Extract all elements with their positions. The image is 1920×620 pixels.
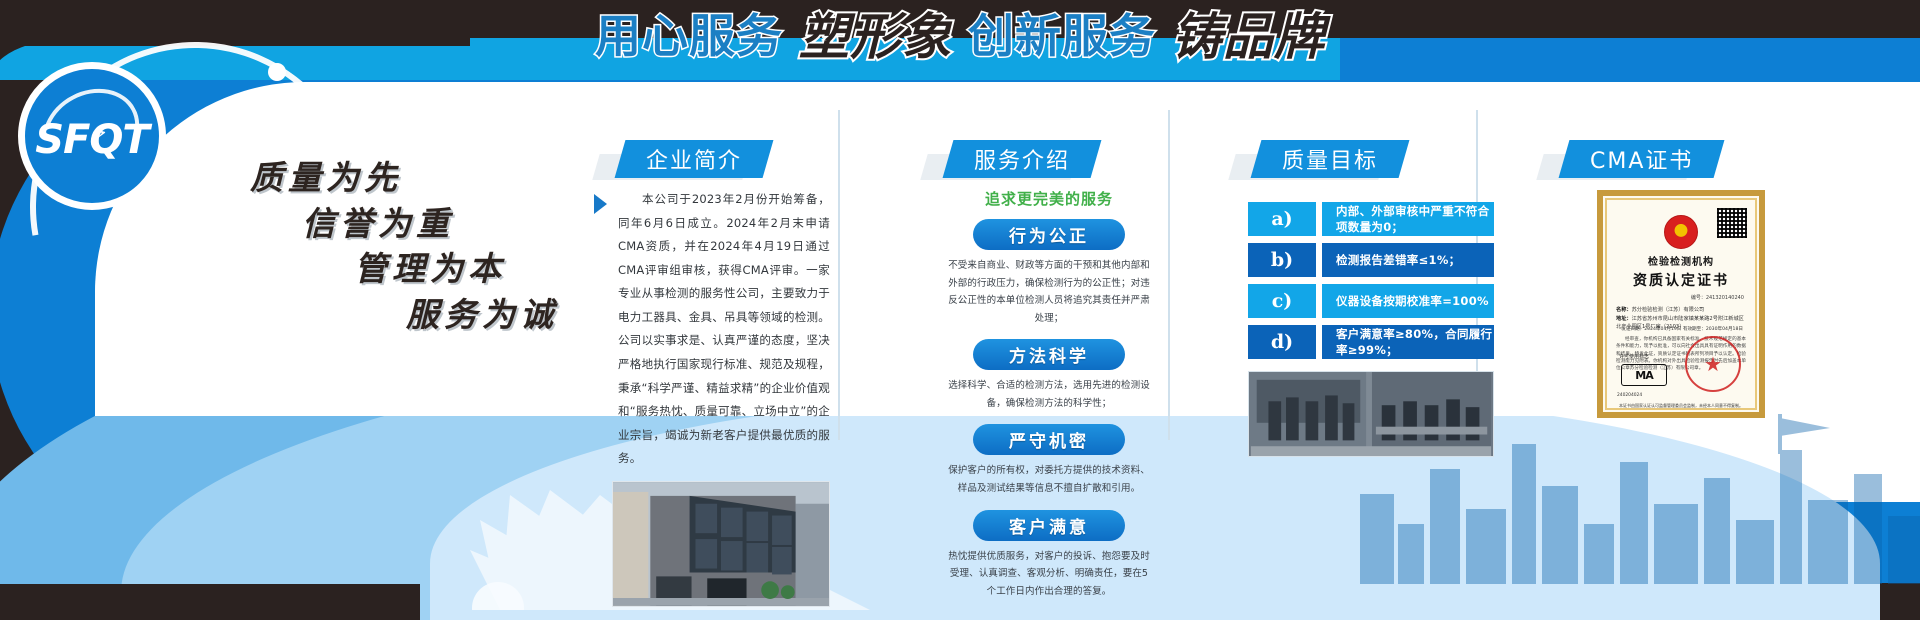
certificate-document[interactable]: 检验检测机构 资质认定证书 编号：241320140240 名称：苏分检验检测（… bbox=[1597, 190, 1765, 418]
national-emblem-icon bbox=[1664, 215, 1698, 249]
service-text-2: 选择科学、合适的检测方法，选用先进的检测设备，确保检测方法的科学性； bbox=[946, 377, 1152, 412]
panel-quality-goals: 质量目标 a) 内部、外部审核中严重不符合项数量为0； b) 检测报告差错率≤1… bbox=[1248, 140, 1494, 457]
header-band: CMA证书 bbox=[1559, 140, 1725, 178]
bullet-arrow-icon bbox=[594, 194, 607, 214]
header-band: 服务介绍 bbox=[943, 140, 1102, 178]
service-pill-1[interactable]: 行为公正 bbox=[973, 219, 1125, 250]
certificate-name-value: 苏分检验检测（江苏）有限公司 bbox=[1632, 307, 1705, 313]
certificate-heading-2: 资质认定证书 bbox=[1612, 270, 1750, 290]
header-band: 质量目标 bbox=[1251, 140, 1410, 178]
service-pill-3[interactable]: 严守机密 bbox=[973, 424, 1125, 455]
slogan-line-2: 信誉为重 bbox=[302, 201, 558, 247]
profile-text-wrap: 本公司于2023年2月份开始筹备，同年6月6日成立。2024年2月末申请CMA资… bbox=[612, 188, 830, 471]
panel-title-certificate: CMA证书 bbox=[1590, 143, 1693, 175]
certificate-footer: 本证书由国家认证认可监督管理委员会监制，未经本人同意不得复制。 bbox=[1603, 403, 1759, 409]
certificate-address-label: 地址： bbox=[1616, 316, 1632, 322]
headline-part-1: 用心服务 bbox=[595, 0, 783, 66]
decorative-dot-upper bbox=[268, 63, 286, 81]
certificate-name-row: 名称：苏分检验检测（江苏）有限公司 bbox=[1616, 307, 1746, 315]
quality-row-c: c) 仪器设备按期校准率=100% bbox=[1248, 284, 1494, 318]
slogan-line-3: 管理为本 bbox=[354, 246, 558, 292]
profile-body-text: 本公司于2023年2月份开始筹备，同年6月6日成立。2024年2月末申请CMA资… bbox=[618, 188, 830, 471]
quality-row-a: a) 内部、外部审核中严重不符合项数量为0； bbox=[1248, 202, 1494, 236]
quality-row-d: d) 客户满意率≥80%，合同履行率≥99%； bbox=[1248, 325, 1494, 359]
office-building-photo bbox=[612, 481, 830, 607]
panel-company-profile: 企业简介 本公司于2023年2月份开始筹备，同年6月6日成立。2024年2月末申… bbox=[612, 140, 830, 607]
lab-inspection-photo bbox=[1248, 371, 1494, 457]
lightning-bolt-icon: ⚡ bbox=[93, 123, 108, 145]
quality-key-a: a) bbox=[1248, 202, 1316, 236]
quality-row-b: b) 检测报告差错率≤1%； bbox=[1248, 243, 1494, 277]
quality-value-c: 仪器设备按期校准率=100% bbox=[1322, 284, 1494, 318]
certificate-image-wrap: 检验检测机构 资质认定证书 编号：241320140240 名称：苏分检验检测（… bbox=[1556, 190, 1806, 418]
quality-header: 质量目标 bbox=[1248, 140, 1494, 178]
panel-service-intro: 服务介绍 追求更完美的服务 行为公正 不受来自商业、财政等方面的干预和其他内部和… bbox=[940, 140, 1158, 612]
quality-value-b: 检测报告差错率≤1%； bbox=[1322, 243, 1494, 277]
corner-mask-bottom-left bbox=[0, 584, 420, 620]
slogan-block: 质量为先 信誉为重 管理为本 服务为诚 bbox=[250, 155, 558, 337]
quality-key-d: d) bbox=[1248, 325, 1316, 359]
service-subtitle: 追求更完美的服务 bbox=[940, 188, 1158, 209]
certificate-dates: 发证日期：2024年04月19日 有效期至：2030年04月18日 bbox=[1621, 326, 1743, 334]
service-header: 服务介绍 bbox=[940, 140, 1158, 178]
certificate-heading-1: 检验检测机构 bbox=[1612, 253, 1750, 268]
certificate-number: 编号：241320140240 bbox=[1612, 294, 1744, 301]
ma-mark-code: 240204024 bbox=[1617, 393, 1642, 398]
headline-part-4: 铸品牌 bbox=[1172, 0, 1325, 69]
service-pill-2[interactable]: 方法科学 bbox=[973, 339, 1125, 370]
official-seal-icon: ★ bbox=[1685, 336, 1741, 392]
quality-key-b: b) bbox=[1248, 243, 1316, 277]
slogan-line-1: 质量为先 bbox=[250, 155, 558, 201]
service-text-4: 热忱提供优质服务，对客户的投诉、抱怨要及时受理、认真调查、客观分析、明确责任，要… bbox=[946, 548, 1152, 601]
quality-value-a: 内部、外部审核中严重不符合项数量为0； bbox=[1322, 202, 1494, 236]
quality-rows: a) 内部、外部审核中严重不符合项数量为0； b) 检测报告差错率≤1%； c)… bbox=[1248, 202, 1494, 359]
header-band: 企业简介 bbox=[615, 140, 774, 178]
profile-header: 企业简介 bbox=[612, 140, 830, 178]
panel-title-quality: 质量目标 bbox=[1282, 143, 1378, 175]
lab-photo-illustration bbox=[1249, 372, 1493, 456]
panel-title-service: 服务介绍 bbox=[974, 143, 1070, 175]
logo-inner: SFQT ⚡ bbox=[27, 71, 157, 201]
headline-part-3: 创新服务 bbox=[968, 0, 1156, 66]
panel-title-profile: 企业简介 bbox=[646, 143, 742, 175]
ma-mark-label: 许可使用标志 bbox=[1619, 353, 1649, 360]
qr-code-icon bbox=[1717, 208, 1747, 238]
panel-divider-1 bbox=[838, 110, 840, 440]
culture-wall-canvas: 用心服务 塑形象 创新服务 铸品牌 SFQT ⚡ 质量为先 信誉为重 管理为本 … bbox=[0, 0, 1920, 620]
top-headline: 用心服务 塑形象 创新服务 铸品牌 bbox=[0, 2, 1920, 64]
company-logo[interactable]: SFQT ⚡ bbox=[18, 62, 166, 210]
service-text-3: 保护客户的所有权，对委托方提供的技术资料、样品及测试结果等信息不擅自扩散和引用。 bbox=[946, 462, 1152, 497]
service-pill-4[interactable]: 客户满意 bbox=[973, 510, 1125, 541]
slogan-line-4: 服务为诚 bbox=[406, 292, 558, 338]
ma-mark-icon: MA bbox=[1621, 364, 1667, 386]
headline-part-2: 塑形象 bbox=[799, 0, 952, 69]
service-text-1: 不受来自商业、财政等方面的干预和其他内部和外部的行政压力，确保检测行为的公正性；… bbox=[946, 257, 1152, 327]
panel-cma-certificate: CMA证书 检验检测机构 资质认定证书 编号：241320140240 名称：苏… bbox=[1556, 140, 1806, 418]
logo-text: SFQT bbox=[27, 117, 157, 163]
quality-value-d: 客户满意率≥80%，合同履行率≥99%； bbox=[1322, 325, 1494, 359]
office-building-illustration bbox=[613, 482, 829, 606]
quality-key-c: c) bbox=[1248, 284, 1316, 318]
certificate-header: CMA证书 bbox=[1556, 140, 1806, 178]
panel-divider-2 bbox=[1168, 110, 1170, 440]
certificate-name-label: 名称： bbox=[1616, 307, 1632, 313]
